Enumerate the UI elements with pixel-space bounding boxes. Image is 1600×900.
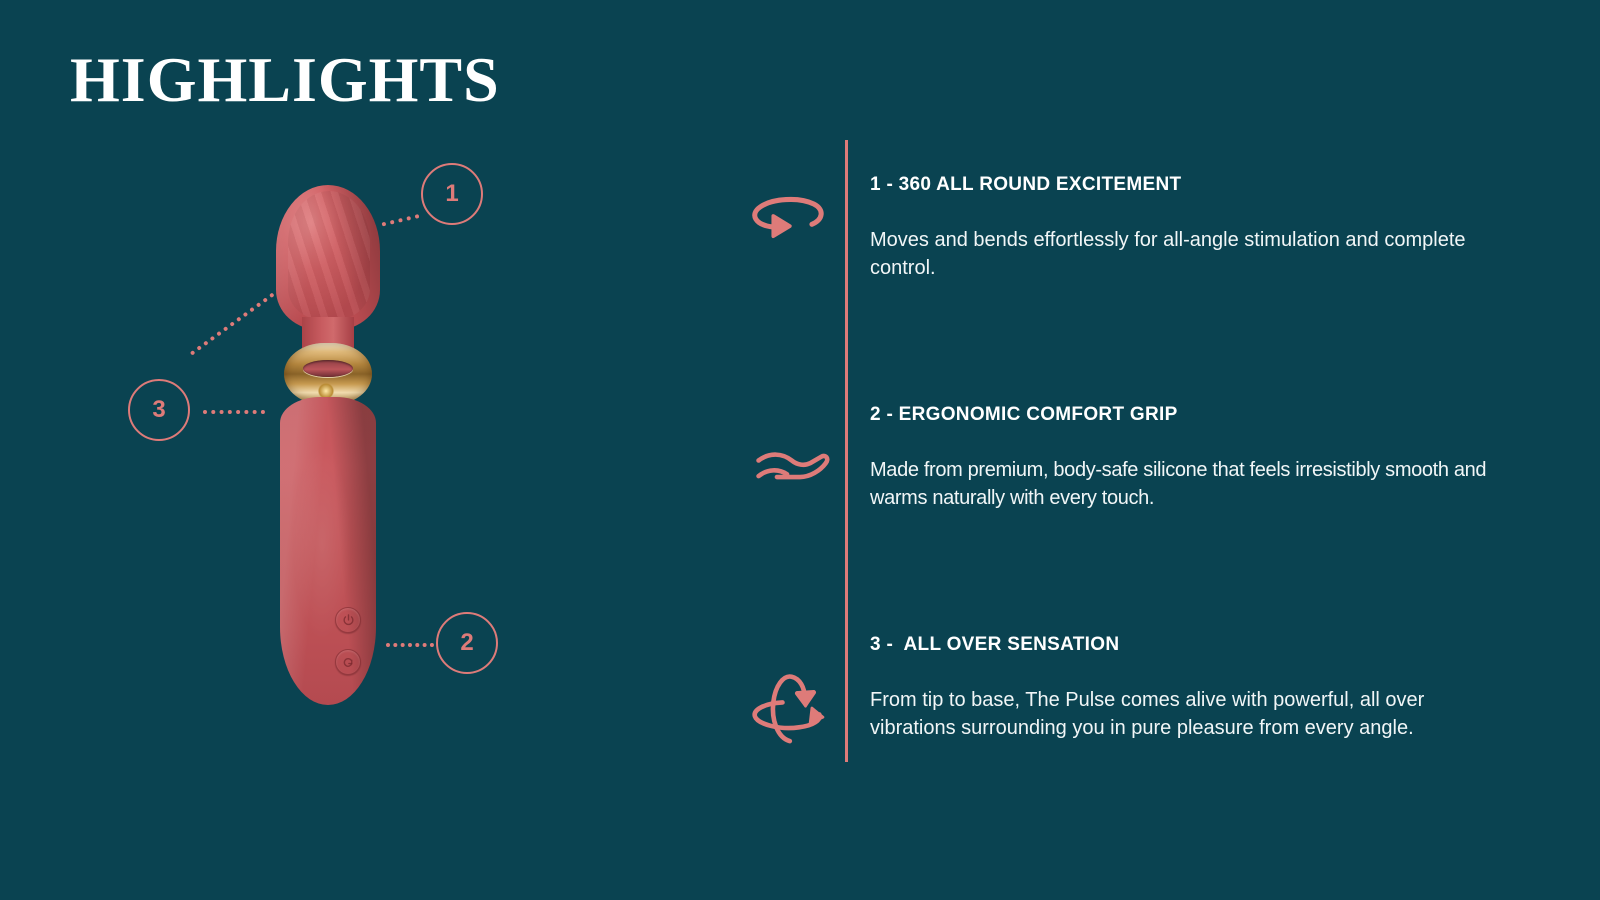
mode-icon [341,655,356,670]
power-icon [341,613,356,628]
product-stage: 1 2 3 [0,0,760,900]
product-gold-band [284,343,372,405]
feature-heading: 3 - ALL OVER SENSATION [870,634,1560,656]
mode-button[interactable] [335,649,361,675]
callout-marker-2[interactable]: 2 [436,612,498,674]
feature-item: 3 - ALL OVER SENSATION From tip to base,… [720,600,1560,810]
callout-leader-3-horizontal [203,410,265,414]
feature-list: 1 - 360 ALL ROUND EXCITEMENT Moves and b… [720,140,1560,810]
feature-body: Made from premium, body-safe silicone th… [870,456,1510,513]
callout-marker-1[interactable]: 1 [421,163,483,225]
callout-marker-3[interactable]: 3 [128,379,190,441]
feature-text: 2 - ERGONOMIC COMFORT GRIP Made from pre… [870,370,1560,513]
callout-leader-2 [386,643,434,647]
feature-body: From tip to base, The Pulse comes alive … [870,686,1510,743]
product-head [276,185,380,330]
power-button[interactable] [335,607,361,633]
callout-leader-3-diagonal [190,292,275,355]
soft-hand-wave-icon [740,418,836,514]
feature-body: Moves and bends effortlessly for all-ang… [870,226,1510,283]
rotation-360-icon [740,168,836,264]
gold-band-slot [303,360,353,377]
feature-item: 2 - ERGONOMIC COMFORT GRIP Made from pre… [720,370,1560,580]
feature-text: 1 - 360 ALL ROUND EXCITEMENT Moves and b… [870,140,1560,283]
product-image [268,185,388,705]
product-handle [280,397,376,705]
feature-item: 1 - 360 ALL ROUND EXCITEMENT Moves and b… [720,140,1560,350]
feature-heading: 2 - ERGONOMIC COMFORT GRIP [870,404,1560,426]
feature-text: 3 - ALL OVER SENSATION From tip to base,… [870,600,1560,743]
highlights-slide: HIGHLIGHTS [0,0,1600,900]
multi-axis-rotation-icon [740,660,836,756]
feature-heading: 1 - 360 ALL ROUND EXCITEMENT [870,174,1560,196]
